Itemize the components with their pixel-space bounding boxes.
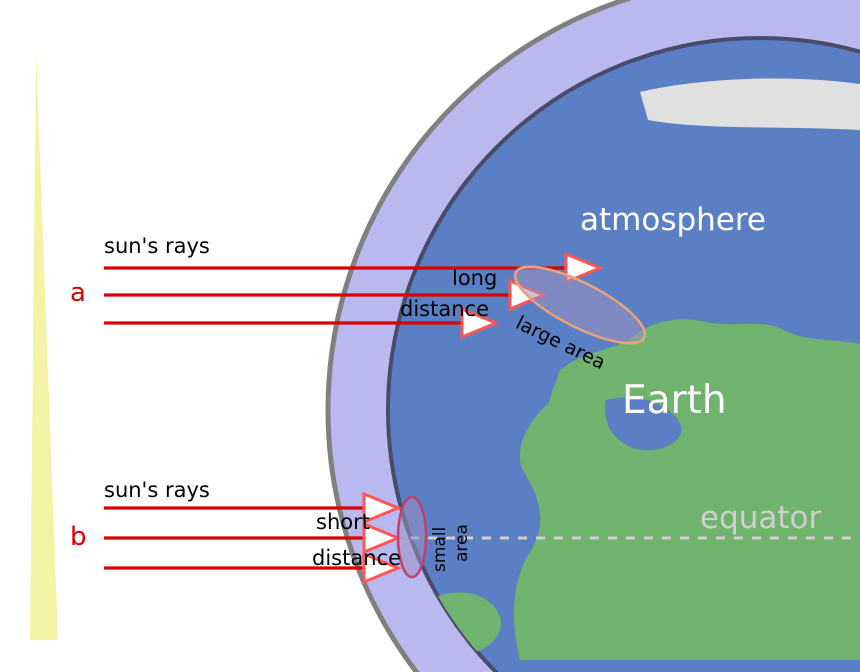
sunbeam-wedge xyxy=(30,52,58,640)
polar-ice-cap xyxy=(640,78,860,130)
label-sun-rays-b: sun's rays xyxy=(104,478,210,502)
small-area-ellipse xyxy=(398,497,426,577)
label-long: long xyxy=(452,266,497,290)
diagram-canvas: sun's rays a long distance large area su… xyxy=(0,0,860,672)
label-sun-rays-a: sun's rays xyxy=(104,234,210,258)
label-atmosphere: atmosphere xyxy=(580,202,766,238)
label-small-area-line1: small xyxy=(430,527,450,572)
label-small-area-line2: area xyxy=(452,524,472,562)
label-equator: equator xyxy=(700,500,821,536)
label-case-b: b xyxy=(70,522,87,552)
label-short: short xyxy=(316,510,370,534)
label-distance-a: distance xyxy=(400,297,489,321)
label-distance-b: distance xyxy=(312,546,401,570)
label-case-a: a xyxy=(70,278,86,308)
landmass-main xyxy=(514,319,860,660)
label-earth: Earth xyxy=(622,378,727,423)
